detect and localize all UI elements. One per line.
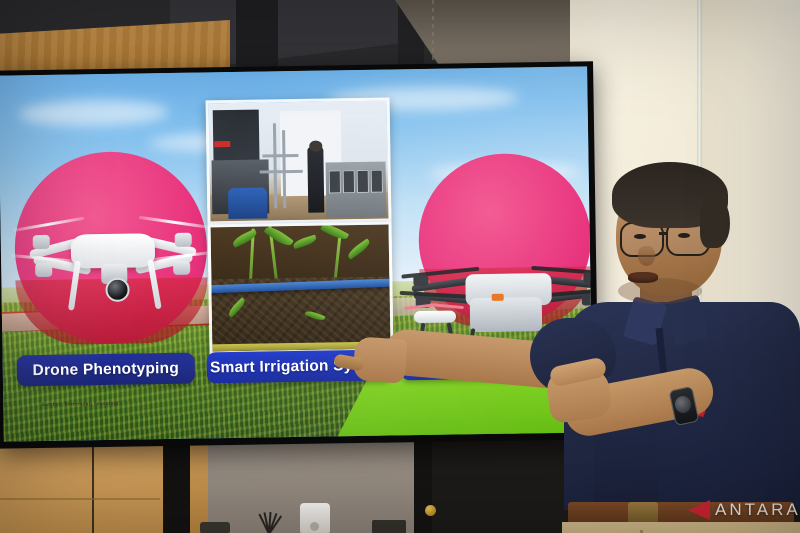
door-knob[interactable] (425, 505, 436, 516)
cabinet-horizontal-seam (0, 498, 160, 500)
photo-scene: Drone Phenotyping Smart Irrigation Syste… (0, 0, 800, 533)
propeller (139, 216, 211, 229)
antara-wordmark: ANTARA (715, 500, 800, 520)
mouth (628, 272, 658, 283)
desk-object-left (200, 522, 230, 533)
camera-lens (105, 278, 129, 302)
technician-figure (307, 146, 324, 212)
cylinder-logo (310, 522, 319, 531)
control-panel (325, 162, 386, 217)
slide-source-watermark: Sumber: Penerapan Teknologi (41, 401, 118, 408)
technician-head (309, 141, 323, 152)
antara-triangle-icon (688, 500, 710, 520)
eyeglasses-bridge (659, 232, 668, 235)
trousers (562, 522, 800, 533)
presentation-display[interactable]: Drone Phenotyping Smart Irrigation Syste… (0, 61, 599, 448)
display-screen: Drone Phenotyping Smart Irrigation Syste… (0, 66, 593, 441)
slide-label-drone-phenotyping[interactable]: Drone Phenotyping (17, 353, 195, 387)
antara-watermark: ANTARA (688, 500, 800, 520)
propeller (13, 217, 84, 232)
ceiling-beam (236, 0, 278, 72)
photo-control-room (206, 98, 392, 225)
cabinet-strip (190, 432, 208, 533)
indicator-light (492, 294, 504, 301)
jaw-shadow (618, 278, 702, 304)
desk-object-right (372, 520, 406, 533)
decorative-twigs (240, 510, 300, 533)
quadcopter-drone-graphic (18, 192, 206, 323)
photo-drip-irrigation (208, 221, 394, 354)
dark-post-right (414, 430, 432, 533)
nose (638, 246, 655, 266)
presenter (520, 150, 800, 533)
